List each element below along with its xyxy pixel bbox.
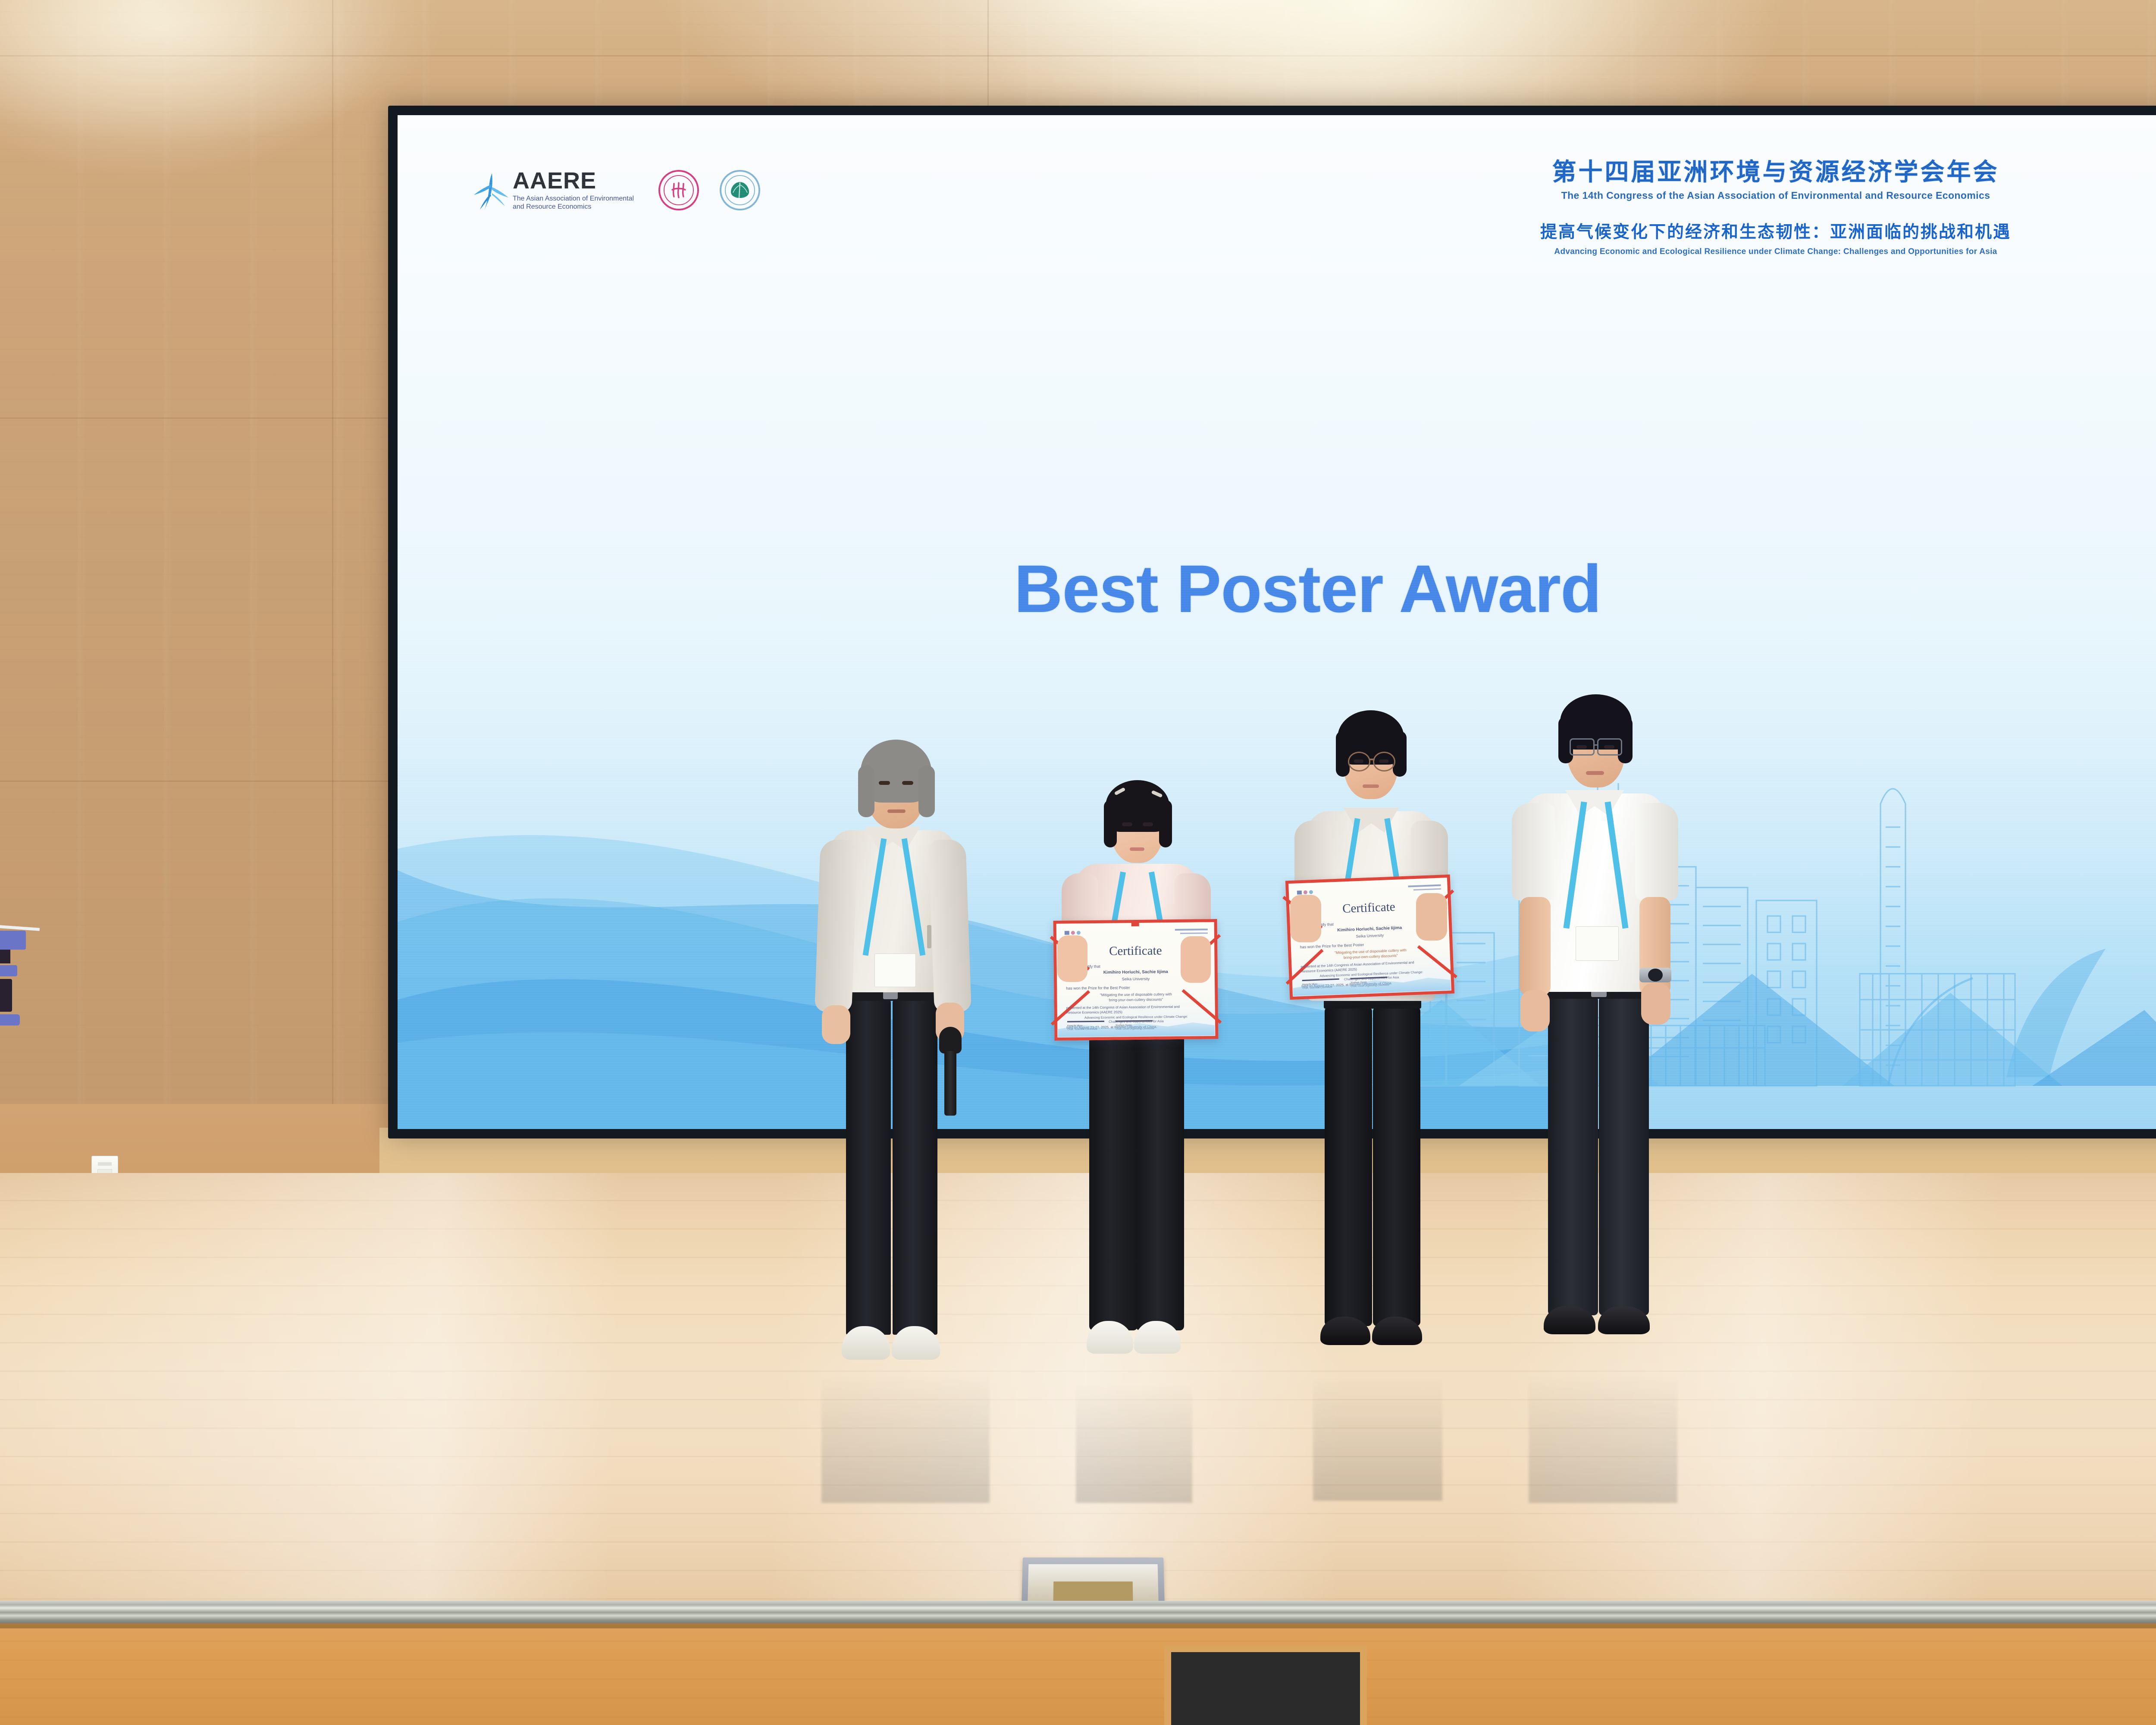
mouth bbox=[1363, 784, 1379, 788]
eye-left bbox=[1122, 822, 1132, 826]
hand-right bbox=[1641, 983, 1670, 1025]
aaere-wordmark: AAERE bbox=[513, 169, 638, 192]
sleeve-left bbox=[1512, 803, 1555, 900]
eye-left bbox=[1354, 759, 1363, 763]
certificate-header-mark bbox=[1175, 928, 1208, 931]
name-badge bbox=[1576, 926, 1619, 961]
eye-left bbox=[1576, 745, 1587, 749]
hand-left bbox=[1057, 935, 1087, 982]
pen bbox=[927, 925, 931, 948]
awardee-male: Certificate This is to certify that Kimi… bbox=[1268, 679, 1470, 1408]
eye-left bbox=[879, 781, 890, 785]
arm-left bbox=[815, 839, 858, 1013]
hair-side-left bbox=[1336, 731, 1350, 777]
logo-row: AAERE The Asian Association of Environme… bbox=[473, 169, 760, 211]
presenter-with-microphone bbox=[789, 701, 996, 1408]
slide-title: Best Poster Award bbox=[398, 551, 2156, 628]
mouth bbox=[1130, 847, 1144, 851]
eye-right bbox=[902, 781, 913, 785]
hair-side-right bbox=[1159, 800, 1172, 847]
glasses-bridge bbox=[1369, 759, 1375, 760]
congress-theme-en: Advancing Economic and Ecological Resili… bbox=[1420, 247, 2131, 257]
trouser-right bbox=[1373, 1007, 1420, 1326]
forearm-left bbox=[1520, 897, 1551, 996]
congress-theme-cn: 提高气候变化下的经济和生态韧性：亚洲面临的挑战和机遇 bbox=[1420, 219, 2131, 243]
wall-seam bbox=[0, 55, 2156, 56]
certificate-seal-dot bbox=[1131, 921, 1139, 926]
mouth bbox=[1586, 771, 1604, 775]
stage-front-lip bbox=[0, 1601, 2156, 1623]
wristwatch-face bbox=[1648, 969, 1663, 982]
congress-title-cn: 第十四届亚洲环境与资源经济学会年会 bbox=[1420, 158, 2131, 186]
hair-side-right bbox=[1393, 731, 1407, 777]
glasses-bridge bbox=[1594, 744, 1598, 746]
stage-side-equipment bbox=[0, 875, 34, 1061]
hand-left bbox=[1290, 895, 1321, 942]
awardee-female: Certificate This is to certify that Kimi… bbox=[1035, 748, 1233, 1404]
trouser-left bbox=[846, 998, 891, 1335]
aaere-leaf-icon bbox=[473, 172, 510, 211]
trouser-right bbox=[893, 998, 937, 1335]
certificate-logos bbox=[1297, 890, 1313, 894]
renmin-university-seal bbox=[658, 170, 699, 210]
partner-university-seal bbox=[720, 170, 760, 210]
stage-apron-shadow bbox=[0, 1623, 2156, 1628]
wall-seam bbox=[332, 0, 333, 1173]
arm-right bbox=[928, 839, 971, 1013]
hand-right bbox=[1416, 893, 1447, 941]
trouser-right bbox=[1136, 1024, 1184, 1330]
hair-side-right bbox=[918, 765, 935, 817]
hand-right bbox=[1181, 936, 1211, 983]
eye-right bbox=[1143, 822, 1153, 826]
trouser-left bbox=[1548, 996, 1598, 1315]
hand-left bbox=[1520, 990, 1550, 1032]
trouser-left bbox=[1089, 1024, 1138, 1330]
microphone[interactable] bbox=[939, 1027, 962, 1054]
official-right bbox=[1488, 664, 1703, 1406]
stage-apron-grain bbox=[0, 1623, 2156, 1725]
trouser-right bbox=[1599, 996, 1649, 1315]
mouth bbox=[887, 809, 906, 813]
auditorium-scene: AAERE The Asian Association of Environme… bbox=[0, 0, 2156, 1725]
congress-title-en: The 14th Congress of the Asian Associati… bbox=[1420, 190, 2131, 201]
hair-side-left bbox=[1104, 800, 1117, 847]
eye-right bbox=[1379, 759, 1388, 763]
eye-right bbox=[1604, 745, 1614, 749]
stage-front-vent[interactable] bbox=[1164, 1645, 1367, 1725]
microphone-handle bbox=[944, 1051, 956, 1116]
aaere-logo: AAERE The Asian Association of Environme… bbox=[473, 169, 638, 211]
name-badge bbox=[874, 953, 916, 987]
congress-header: 第十四届亚洲环境与资源经济学会年会 The 14th Congress of t… bbox=[1420, 158, 2131, 257]
trouser-left bbox=[1325, 1007, 1372, 1326]
sleeve-right bbox=[1635, 803, 1678, 900]
hair-side-left bbox=[858, 765, 874, 817]
certificate-logos bbox=[1065, 931, 1081, 935]
aaere-subtitle: The Asian Association of Environmental a… bbox=[513, 195, 638, 211]
hand-left bbox=[822, 1005, 850, 1044]
